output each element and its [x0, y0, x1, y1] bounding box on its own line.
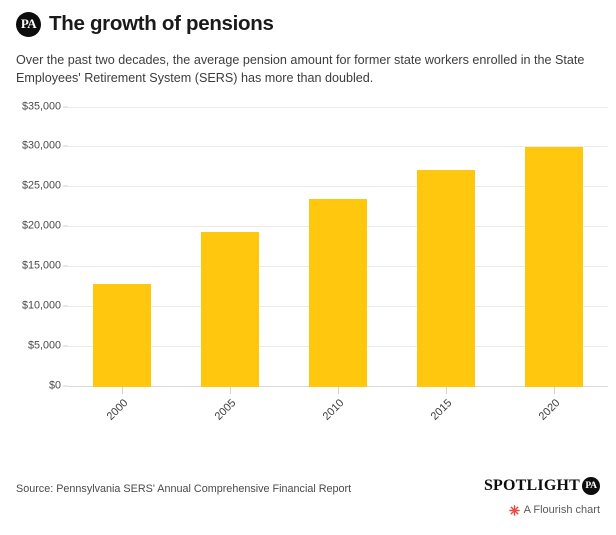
- x-axis-tick-label: 2005: [200, 397, 238, 435]
- x-tick-mark: [122, 387, 123, 394]
- y-axis-tick-label: $0: [49, 380, 61, 391]
- chart-subtitle: Over the past two decades, the average p…: [16, 51, 600, 88]
- plot-area: $0$5,000$10,000$15,000$20,000$25,000$30,…: [68, 108, 608, 387]
- bar-series: [68, 108, 608, 387]
- source-note: Source: Pennsylvania SERS' Annual Compre…: [16, 483, 351, 495]
- y-axis-tick-label: $30,000: [22, 141, 61, 152]
- bar[interactable]: [525, 147, 583, 387]
- chart-area: $0$5,000$10,000$15,000$20,000$25,000$30,…: [0, 100, 616, 490]
- flourish-asterisk-icon: [509, 505, 520, 516]
- x-axis-tick-label: 2000: [92, 397, 130, 435]
- bar[interactable]: [417, 170, 475, 386]
- x-tick-mark: [338, 387, 339, 394]
- x-axis-tick-label: 2015: [416, 397, 454, 435]
- chart-header: PA The growth of pensions Over the past …: [0, 0, 616, 88]
- flourish-credit-label: A Flourish chart: [524, 504, 600, 516]
- y-axis-tick-label: $25,000: [22, 181, 61, 192]
- y-axis-tick-label: $5,000: [28, 340, 61, 351]
- brand-block: SPOTLIGHT PA A Flourish chart: [484, 477, 600, 516]
- spotlight-pa-wordmark: SPOTLIGHT PA: [484, 477, 600, 495]
- y-axis-tick-label: $20,000: [22, 221, 61, 232]
- flourish-credit[interactable]: A Flourish chart: [484, 504, 600, 516]
- x-tick-mark: [230, 387, 231, 394]
- bar[interactable]: [309, 199, 367, 386]
- x-axis-tick-label: 2020: [524, 397, 562, 435]
- bar[interactable]: [201, 232, 259, 387]
- chart-footer: Source: Pennsylvania SERS' Annual Compre…: [0, 475, 616, 535]
- x-tick-mark: [446, 387, 447, 394]
- y-axis-tick-label: $35,000: [22, 101, 61, 112]
- y-axis-tick-label: $15,000: [22, 261, 61, 272]
- spotlight-pa-circle-logo-icon: PA: [16, 12, 41, 37]
- y-axis-tick-label: $10,000: [22, 300, 61, 311]
- spotlight-word: SPOTLIGHT: [484, 477, 580, 495]
- spotlight-pa-badge-icon: PA: [582, 477, 600, 495]
- page-title: The growth of pensions: [49, 14, 274, 35]
- x-tick-mark: [554, 387, 555, 394]
- bar[interactable]: [93, 284, 151, 387]
- x-axis-tick-label: 2010: [308, 397, 346, 435]
- title-row: PA The growth of pensions: [16, 10, 600, 38]
